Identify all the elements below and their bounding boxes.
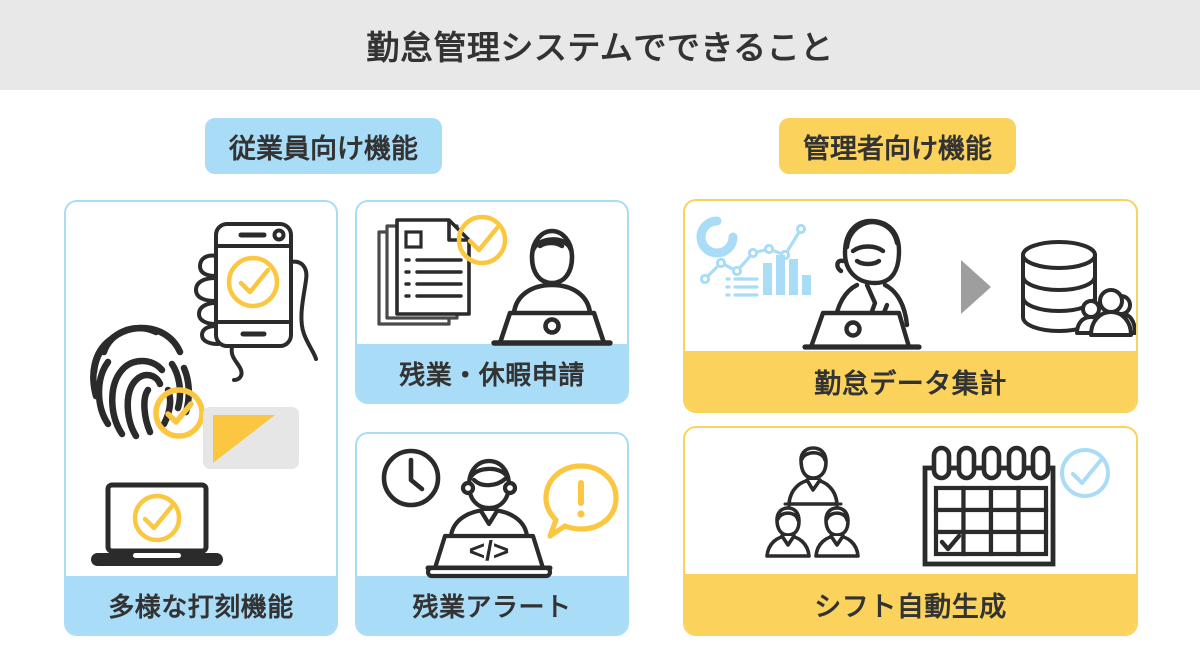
person-at-laptop-icon (492, 225, 612, 350)
check-circle-icon (1056, 444, 1114, 502)
card-punch-label: 多様な打刻機能 (66, 576, 336, 634)
check-circle-icon (229, 258, 277, 306)
card-shift-illustration (685, 428, 1136, 574)
card-request-illustration (357, 202, 627, 344)
calendar-check-icon (921, 446, 1061, 566)
laptop-icon (87, 482, 227, 570)
card-punch-methods[interactable]: 多様な打刻機能 (64, 200, 338, 636)
card-alert-label: 残業アラート (357, 576, 627, 634)
manager-at-laptop-icon (801, 213, 937, 353)
ic-card-icon (203, 407, 299, 469)
alert-bubble-icon (542, 462, 620, 544)
card-punch-illustration (66, 202, 336, 576)
smartphone-in-hand-icon (186, 214, 336, 379)
card-overtime-leave-request[interactable]: 残業・休暇申請 (355, 200, 629, 404)
analytics-cluster-icon (699, 217, 817, 303)
header-band: 勤怠管理システムでできること (0, 0, 1200, 90)
person-at-laptop-code-icon: </> (425, 452, 553, 580)
check-circle-icon (150, 384, 208, 442)
card-shift-label: シフト自動生成 (685, 574, 1136, 634)
section-badge-employee: 従業員向け機能 (205, 118, 442, 174)
svg-text:</>: </> (469, 535, 509, 566)
card-data-label: 勤怠データ集計 (685, 351, 1136, 411)
card-shift-auto-generation[interactable]: シフト自動生成 (683, 426, 1138, 636)
section-badge-admin: 管理者向け機能 (779, 118, 1016, 174)
card-overtime-alert[interactable]: </> 残業アラート (355, 432, 629, 636)
arrow-right-icon (957, 258, 995, 316)
database-users-icon (1011, 237, 1133, 343)
page-title: 勤怠管理システムでできること (366, 21, 833, 69)
card-request-label: 残業・休暇申請 (357, 344, 627, 402)
card-data-illustration (685, 201, 1136, 351)
team-org-icon (763, 450, 863, 560)
card-alert-illustration: </> (357, 434, 627, 576)
card-attendance-data-aggregation[interactable]: 勤怠データ集計 (683, 199, 1138, 413)
infographic-canvas: 勤怠管理システムでできること 従業員向け機能 管理者向け機能 (0, 0, 1200, 650)
